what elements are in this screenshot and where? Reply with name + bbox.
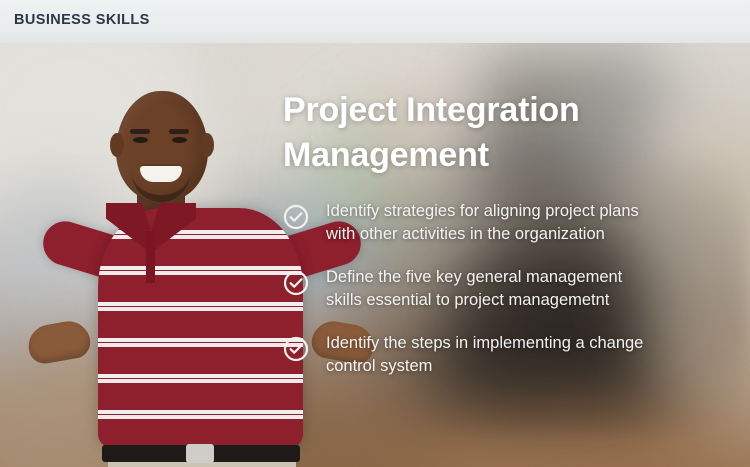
presenter-eye-left: [133, 137, 148, 143]
course-slide: BUSINESS SKILLS: [0, 0, 750, 467]
objective-item: Define the five key general management s…: [283, 266, 713, 311]
presenter-shirt-placket: [146, 231, 155, 283]
presenter-eye-right: [172, 137, 187, 143]
slide-title: Project Integration Management: [283, 88, 648, 178]
check-circle-icon: [283, 204, 309, 230]
presenter-striped-polo-shirt: [98, 208, 303, 448]
category-header-bar: BUSINESS SKILLS: [0, 0, 750, 43]
slide-copy: Project Integration Management Identify …: [283, 88, 713, 398]
presenter-eyebrow-left: [130, 129, 150, 134]
objective-item: Identify strategies for aligning project…: [283, 200, 713, 245]
check-circle-icon: [283, 270, 309, 296]
objective-text: Define the five key general management s…: [326, 266, 644, 311]
learning-objectives-list: Identify strategies for aligning project…: [283, 200, 713, 377]
category-label: BUSINESS SKILLS: [14, 12, 150, 28]
objective-item: Identify the steps in implementing a cha…: [283, 332, 713, 377]
objective-text: Identify the steps in implementing a cha…: [326, 332, 644, 377]
presenter-ear-right: [200, 133, 214, 157]
presenter-eyebrow-right: [169, 129, 189, 134]
presenter-smile: [140, 166, 182, 182]
objective-text: Identify strategies for aligning project…: [326, 200, 644, 245]
presenter-belt-buckle: [186, 444, 214, 463]
check-circle-icon: [283, 336, 309, 362]
presenter-ear-left: [110, 133, 124, 157]
slide-background-photo: Project Integration Management Identify …: [0, 43, 750, 467]
